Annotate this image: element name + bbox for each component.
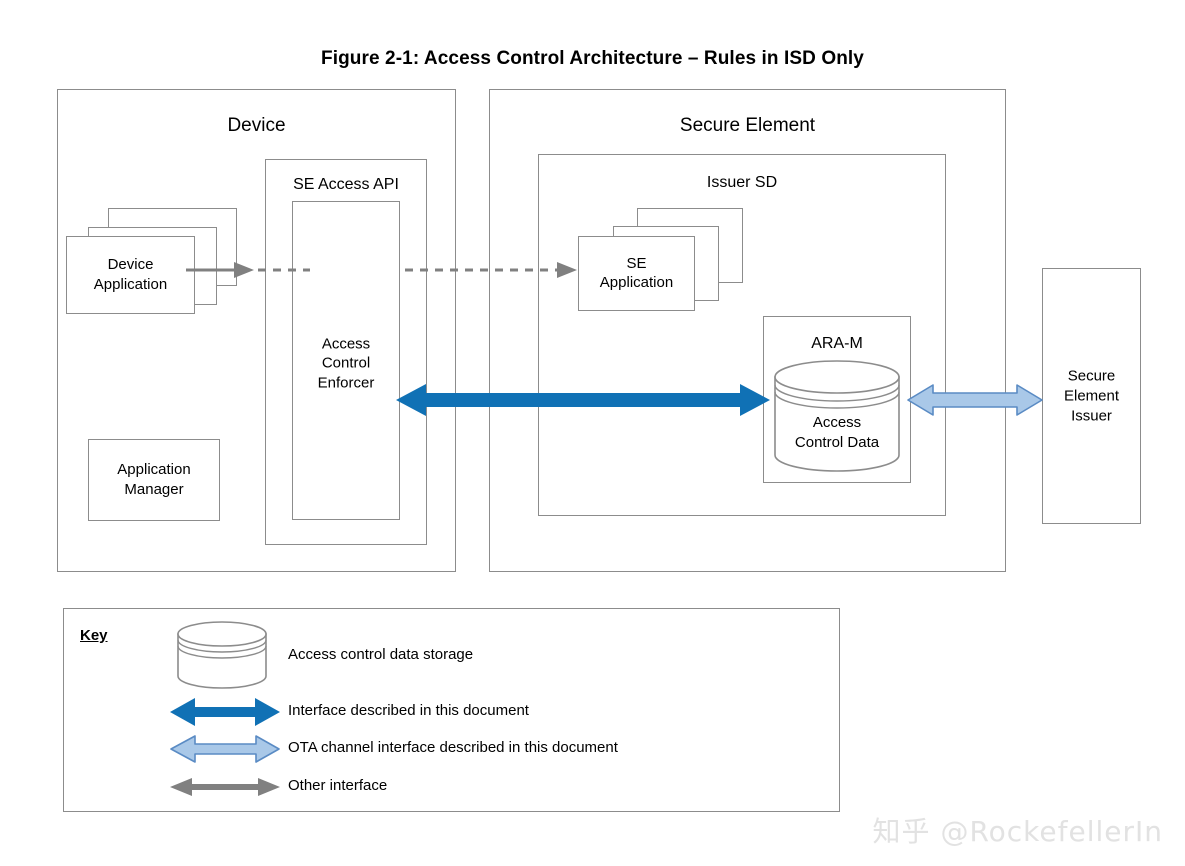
se-app-line-1: SE — [579, 254, 694, 274]
access-control-data-label: Access Control Data — [773, 413, 901, 453]
key-label-interface: Interface described in this document — [288, 702, 529, 719]
key-gray-double-arrow-icon — [170, 772, 280, 802]
application-manager-box: Application Manager — [88, 439, 220, 521]
access-control-data-cylinder-icon: Access Control Data — [773, 361, 901, 471]
se-application-label: SE Application — [579, 254, 694, 294]
other-interface-dashed-segment-1 — [258, 258, 310, 282]
se-app-line-2: Application — [579, 274, 694, 294]
ota-channel-interface-arrow — [907, 382, 1043, 418]
access-control-enforcer-box: Access Control Enforcer — [292, 201, 400, 520]
device-title: Device — [58, 114, 455, 138]
key-title: Key — [80, 627, 108, 644]
app-manager-line-2: Manager — [89, 480, 219, 500]
secure-element-issuer-label: Secure Element Issuer — [1043, 366, 1140, 425]
key-label-other: Other interface — [288, 777, 387, 794]
enforcer-line-3: Enforcer — [293, 374, 399, 394]
key-label-storage: Access control data storage — [288, 646, 473, 663]
key-label-ota: OTA channel interface described in this … — [288, 739, 618, 756]
se-application-front: SE Application — [578, 236, 695, 311]
key-light-blue-double-arrow-icon — [170, 734, 280, 764]
device-application-other-interface-arrow — [186, 258, 266, 282]
device-app-line-2: Application — [67, 275, 194, 295]
figure-title: Figure 2-1: Access Control Architecture … — [0, 48, 1185, 70]
key-dark-blue-double-arrow-icon — [170, 697, 280, 727]
sei-line-1: Secure — [1043, 366, 1140, 386]
other-interface-dashed-arrow-to-se-application — [405, 258, 581, 282]
access-control-enforcer-label: Access Control Enforcer — [293, 334, 399, 393]
secure-element-title: Secure Element — [490, 114, 1005, 138]
key-cylinder-icon — [176, 622, 268, 688]
application-manager-label: Application Manager — [89, 460, 219, 500]
enforcer-line-1: Access — [293, 334, 399, 354]
device-application-front: Device Application — [66, 236, 195, 314]
sei-line-2: Element — [1043, 386, 1140, 406]
se-access-api-title: SE Access API — [266, 175, 426, 195]
sei-line-3: Issuer — [1043, 406, 1140, 426]
device-application-label: Device Application — [67, 255, 194, 295]
issuer-sd-title: Issuer SD — [539, 173, 945, 193]
secure-element-issuer-box: Secure Element Issuer — [1042, 268, 1141, 524]
watermark: 知乎 @RockefellerIn — [873, 810, 1163, 850]
enforcer-line-2: Control — [293, 354, 399, 374]
access-control-interface-arrow — [396, 382, 770, 418]
acd-line-1: Access — [773, 413, 901, 433]
device-app-line-1: Device — [67, 255, 194, 275]
diagram-canvas: Figure 2-1: Access Control Architecture … — [0, 0, 1185, 866]
acd-line-2: Control Data — [773, 433, 901, 453]
app-manager-line-1: Application — [89, 460, 219, 480]
ara-m-title: ARA-M — [764, 334, 910, 354]
